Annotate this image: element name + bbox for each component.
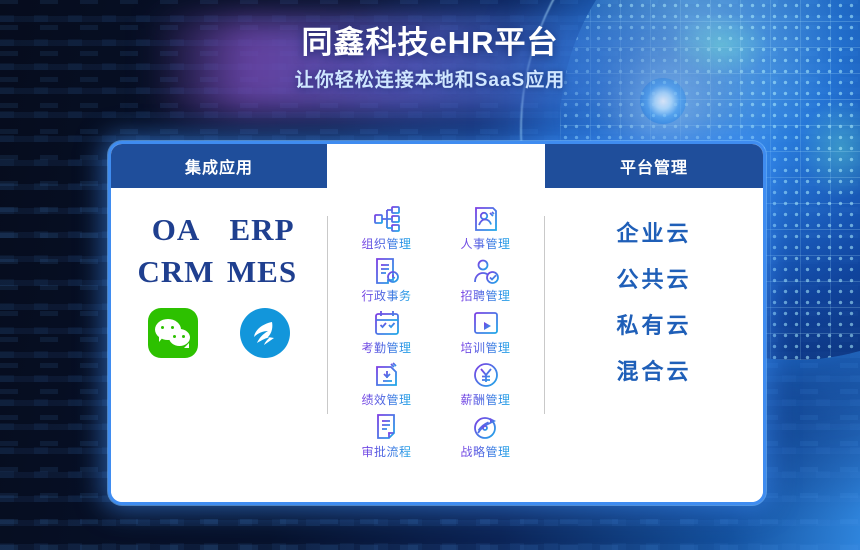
- cloud-item-private[interactable]: 私有云: [616, 312, 691, 340]
- module-label: 行政事务: [361, 287, 411, 304]
- approval-document-icon: [372, 412, 402, 442]
- card-body: OA ERP CRM MES: [111, 188, 763, 502]
- module-strategy-management[interactable]: 战略管理: [436, 412, 535, 460]
- wechat-icon[interactable]: [148, 308, 198, 358]
- module-approval-flow[interactable]: 审批流程: [337, 412, 436, 460]
- module-label: 战略管理: [460, 443, 510, 460]
- org-chart-icon: [372, 204, 402, 234]
- module-label: 培训管理: [460, 339, 510, 356]
- divider-left: [327, 216, 328, 414]
- strategy-target-icon: [471, 412, 501, 442]
- im-app-row: [111, 308, 327, 358]
- panel-hr-modules: 组织管理: [327, 188, 545, 502]
- module-salary-management[interactable]: 薪酬管理: [436, 360, 535, 408]
- module-label: 审批流程: [361, 443, 411, 460]
- salary-yuan-icon: [471, 360, 501, 390]
- cloud-item-enterprise[interactable]: 企业云: [616, 220, 691, 248]
- admin-affairs-icon: [372, 256, 402, 286]
- module-label: 人事管理: [460, 235, 510, 252]
- module-org-management[interactable]: 组织管理: [337, 204, 436, 252]
- header: 同鑫科技eHR平台 让你轻松连接本地和SaaS应用: [0, 22, 860, 94]
- module-label: 招聘管理: [460, 287, 510, 304]
- panel-platform-management: 企业云 公共云 私有云 混合云: [545, 188, 763, 502]
- cloud-type-list: 企业云 公共云 私有云 混合云: [545, 214, 763, 386]
- page-title: 同鑫科技eHR平台: [0, 22, 860, 64]
- dingtalk-icon[interactable]: [240, 308, 290, 358]
- module-performance-management[interactable]: 绩效管理: [337, 360, 436, 408]
- module-personnel-management[interactable]: 人事管理: [436, 204, 535, 252]
- module-attendance-management[interactable]: 考勤管理: [337, 308, 436, 356]
- app-word-erp[interactable]: ERP: [219, 210, 305, 250]
- tab-hr-modules[interactable]: [327, 144, 545, 188]
- personnel-icon: [471, 204, 501, 234]
- tab-integrated-apps[interactable]: 集成应用: [111, 144, 327, 188]
- module-training-management[interactable]: 培训管理: [436, 308, 535, 356]
- module-recruitment-management[interactable]: 招聘管理: [436, 256, 535, 304]
- module-admin-affairs[interactable]: 行政事务: [337, 256, 436, 304]
- tab-platform-management[interactable]: 平台管理: [545, 144, 763, 188]
- cloud-item-hybrid[interactable]: 混合云: [616, 358, 691, 386]
- app-word-grid: OA ERP CRM MES: [111, 196, 327, 292]
- cloud-item-public[interactable]: 公共云: [616, 266, 691, 294]
- module-label: 薪酬管理: [460, 391, 510, 408]
- tab-bar: 集成应用 平台管理: [111, 144, 763, 188]
- module-label: 考勤管理: [361, 339, 411, 356]
- module-label: 组织管理: [361, 235, 411, 252]
- page-root: 同鑫科技eHR平台 让你轻松连接本地和SaaS应用 集成应用 平台管理 OA E…: [0, 0, 860, 550]
- panel-integrated-apps: OA ERP CRM MES: [111, 188, 327, 502]
- app-word-oa[interactable]: OA: [133, 210, 219, 250]
- main-card: 集成应用 平台管理 OA ERP CRM MES: [108, 141, 766, 505]
- module-icon-grid: 组织管理: [327, 196, 545, 460]
- training-play-icon: [471, 308, 501, 338]
- app-word-crm[interactable]: CRM: [133, 252, 219, 292]
- performance-icon: [372, 360, 402, 390]
- attendance-calendar-icon: [372, 308, 402, 338]
- app-word-mes[interactable]: MES: [219, 252, 305, 292]
- page-subtitle: 让你轻松连接本地和SaaS应用: [0, 67, 860, 94]
- module-label: 绩效管理: [361, 391, 411, 408]
- recruitment-icon: [471, 256, 501, 286]
